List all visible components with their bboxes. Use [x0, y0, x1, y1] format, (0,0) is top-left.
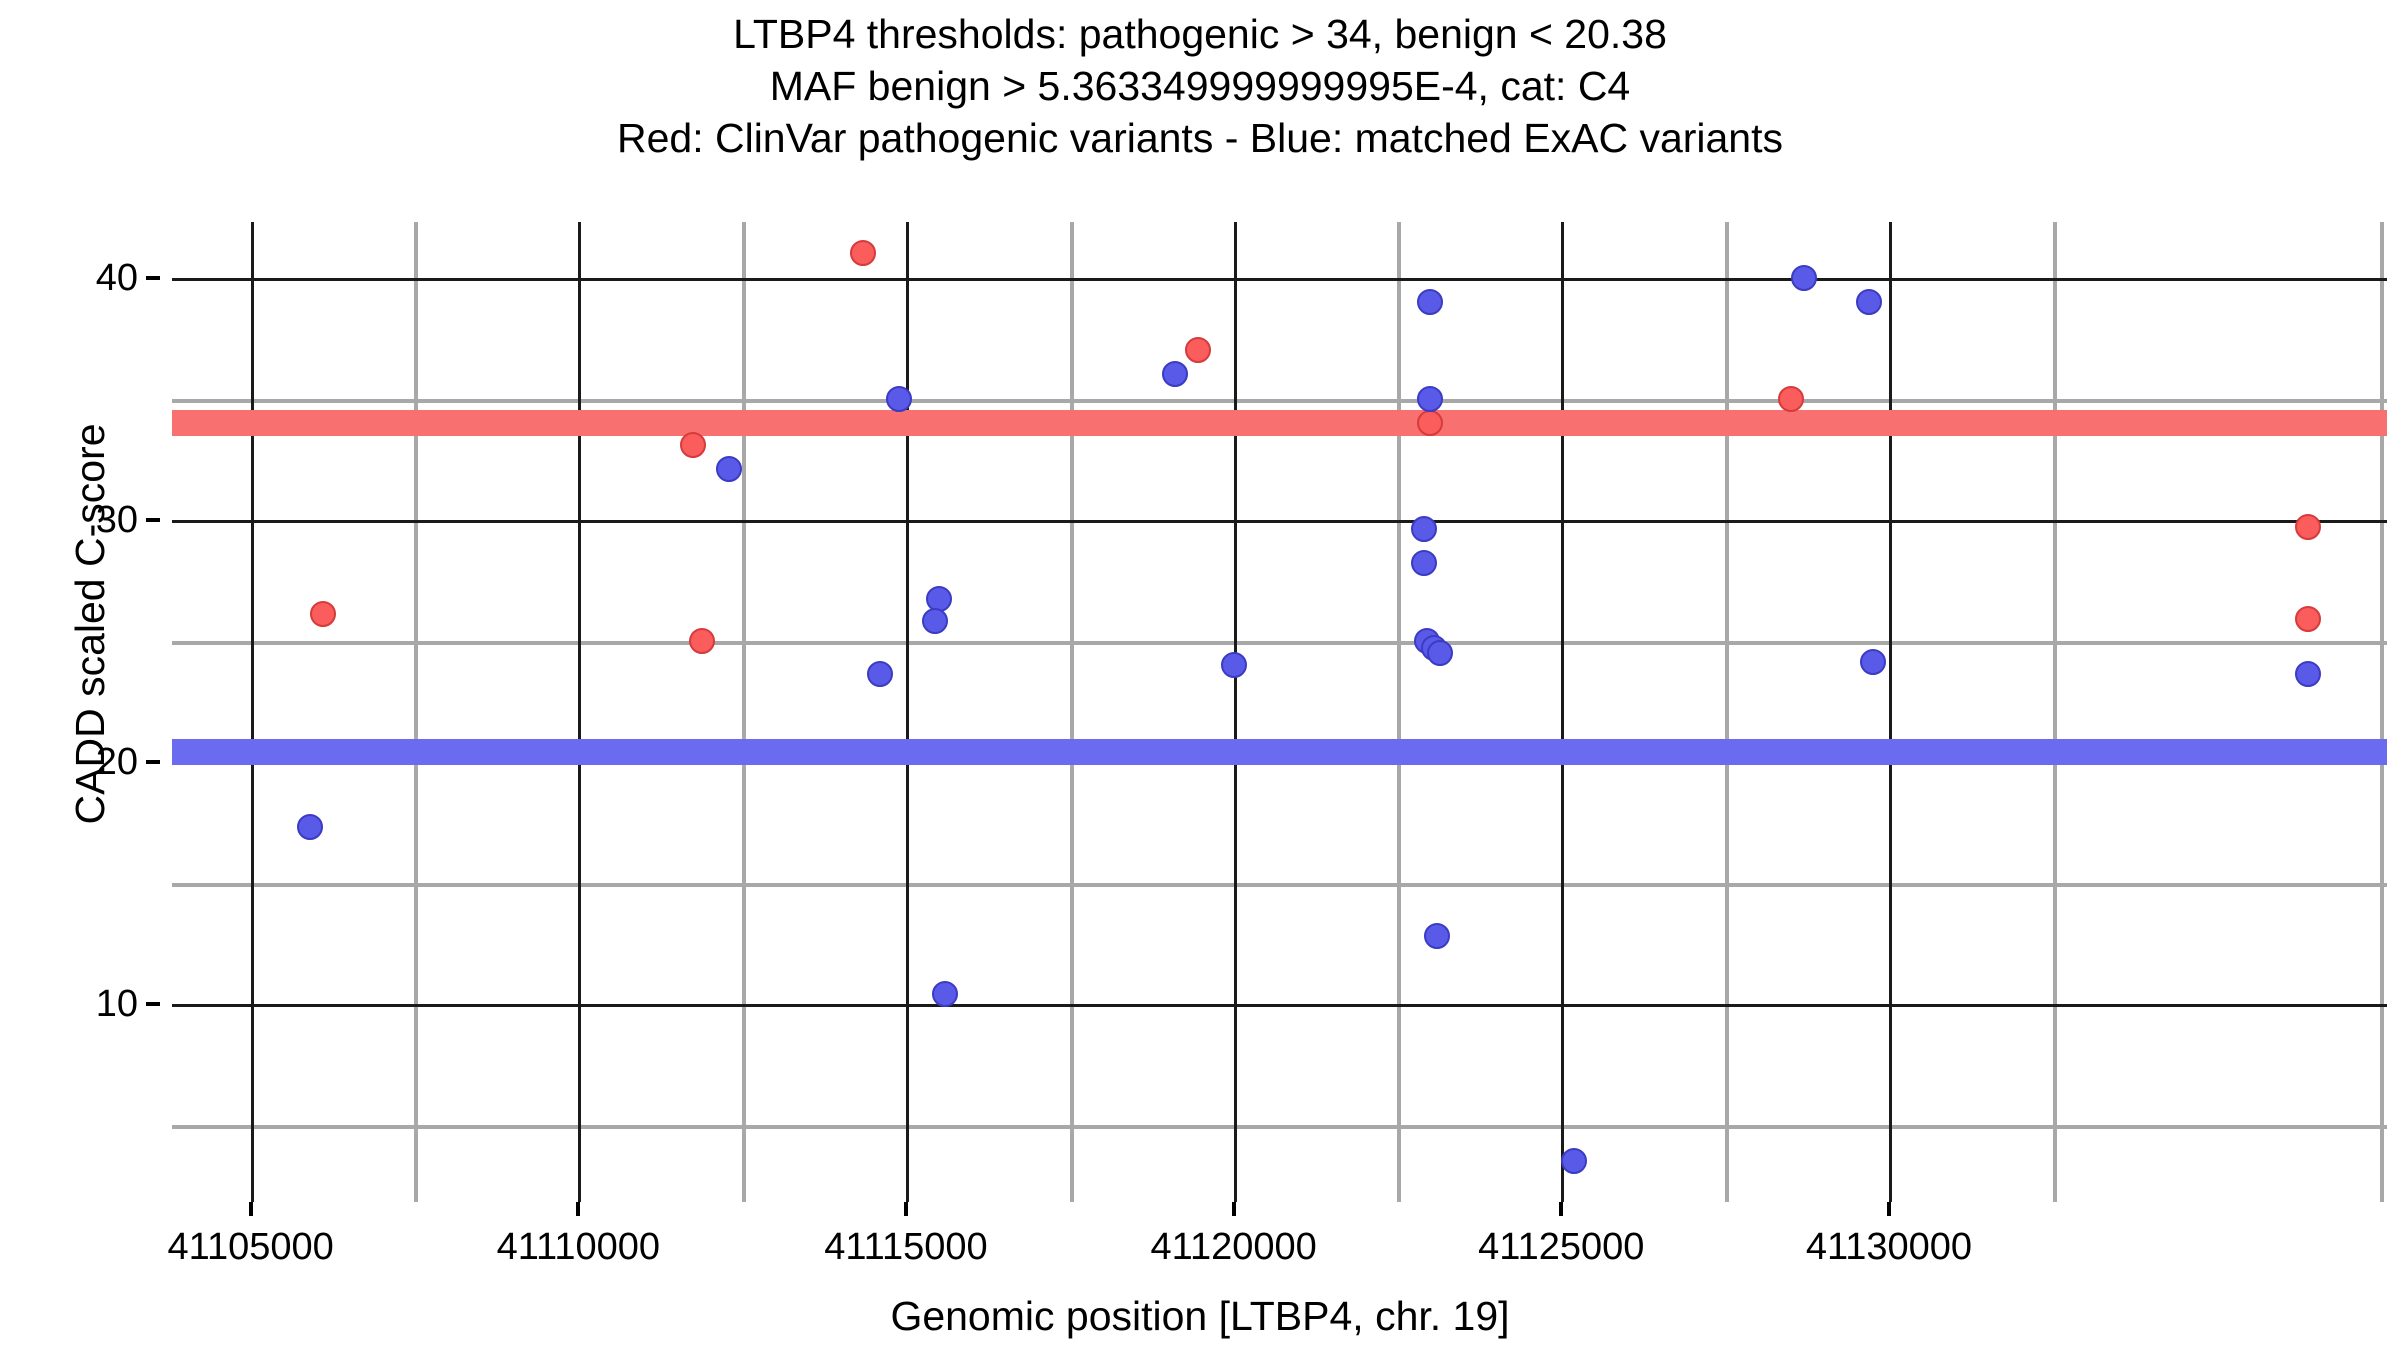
- data-point-exac[interactable]: [1791, 265, 1817, 291]
- x-axis-label: Genomic position [LTBP4, chr. 19]: [0, 1292, 2400, 1340]
- data-point-pathogenic[interactable]: [689, 628, 715, 654]
- x-tick-mark: [1559, 1202, 1563, 1216]
- x-tick-mark: [576, 1202, 580, 1216]
- data-point-exac[interactable]: [297, 814, 323, 840]
- gridline-horizontal-major: [172, 1004, 2387, 1007]
- gridline-horizontal-minor: [172, 641, 2387, 645]
- chart-title: LTBP4 thresholds: pathogenic > 34, benig…: [0, 8, 2400, 164]
- data-point-exac[interactable]: [1856, 289, 1882, 315]
- gridline-vertical-major: [251, 222, 254, 1202]
- gridline-vertical-minor: [1070, 222, 1074, 1202]
- x-tick-label: 41130000: [1806, 1228, 1972, 1266]
- gridline-vertical-major: [1889, 222, 1892, 1202]
- gridline-vertical-major: [1561, 222, 1564, 1202]
- y-tick-mark: [146, 1002, 160, 1006]
- gridline-vertical-major: [906, 222, 909, 1202]
- gridline-vertical-minor: [742, 222, 746, 1202]
- data-point-exac[interactable]: [1411, 550, 1437, 576]
- y-axis-label: CADD scaled C-score: [66, 134, 114, 1114]
- chart-title-line-1: LTBP4 thresholds: pathogenic > 34, benig…: [0, 8, 2400, 60]
- data-point-exac[interactable]: [1427, 640, 1453, 666]
- data-point-exac[interactable]: [1221, 652, 1247, 678]
- pathogenic-threshold-band: [172, 410, 2387, 436]
- gridline-vertical-minor: [1397, 222, 1401, 1202]
- x-tick-mark: [904, 1202, 908, 1216]
- data-point-pathogenic[interactable]: [1778, 386, 1804, 412]
- x-tick-mark: [1887, 1202, 1891, 1216]
- chart-root: LTBP4 thresholds: pathogenic > 34, benig…: [0, 0, 2400, 1350]
- y-tick-mark: [146, 760, 160, 764]
- data-point-pathogenic[interactable]: [680, 432, 706, 458]
- data-point-exac[interactable]: [922, 608, 948, 634]
- plot-canvas: [172, 222, 2387, 1202]
- y-tick-mark: [146, 276, 160, 280]
- x-axis-ticks: 4110500041110000411150004112000041125000…: [172, 1202, 2387, 1292]
- gridline-horizontal-major: [172, 278, 2387, 281]
- plot-area: [172, 222, 2387, 1202]
- x-tick-label: 41105000: [168, 1228, 334, 1266]
- chart-title-line-2: MAF benign > 5.363349999999995E-4, cat: …: [0, 60, 2400, 112]
- x-tick-mark: [249, 1202, 253, 1216]
- data-point-exac[interactable]: [867, 661, 893, 687]
- data-point-exac[interactable]: [716, 456, 742, 482]
- gridline-horizontal-minor: [172, 883, 2387, 887]
- data-point-pathogenic[interactable]: [2295, 606, 2321, 632]
- gridline-vertical-minor: [2053, 222, 2057, 1202]
- data-point-exac[interactable]: [1417, 289, 1443, 315]
- data-point-pathogenic[interactable]: [850, 240, 876, 266]
- data-point-exac[interactable]: [1561, 1148, 1587, 1174]
- gridline-horizontal-minor: [172, 399, 2387, 403]
- gridline-vertical-minor: [1725, 222, 1729, 1202]
- data-point-exac[interactable]: [1424, 923, 1450, 949]
- data-point-exac[interactable]: [1417, 386, 1443, 412]
- data-point-exac[interactable]: [1162, 361, 1188, 387]
- data-point-pathogenic[interactable]: [1185, 337, 1211, 363]
- y-tick-mark: [146, 518, 160, 522]
- gridline-vertical-major: [578, 222, 581, 1202]
- data-point-pathogenic[interactable]: [2295, 514, 2321, 540]
- gridline-vertical-minor: [414, 222, 418, 1202]
- x-tick-label: 41125000: [1478, 1228, 1644, 1266]
- data-point-pathogenic[interactable]: [310, 601, 336, 627]
- x-tick-label: 41120000: [1151, 1228, 1317, 1266]
- data-point-exac[interactable]: [1411, 516, 1437, 542]
- gridline-vertical-minor: [2380, 222, 2384, 1202]
- benign-threshold-band: [172, 739, 2387, 765]
- data-point-exac[interactable]: [1860, 649, 1886, 675]
- data-point-exac[interactable]: [932, 981, 958, 1007]
- data-point-exac[interactable]: [2295, 661, 2321, 687]
- gridline-horizontal-major: [172, 520, 2387, 523]
- x-tick-mark: [1232, 1202, 1236, 1216]
- data-point-pathogenic[interactable]: [1417, 410, 1443, 436]
- gridline-vertical-major: [1234, 222, 1237, 1202]
- data-point-exac[interactable]: [886, 386, 912, 412]
- gridline-horizontal-minor: [172, 1125, 2387, 1129]
- chart-title-line-3: Red: ClinVar pathogenic variants - Blue:…: [0, 112, 2400, 164]
- x-tick-label: 41115000: [824, 1228, 987, 1266]
- x-tick-label: 41110000: [497, 1228, 660, 1266]
